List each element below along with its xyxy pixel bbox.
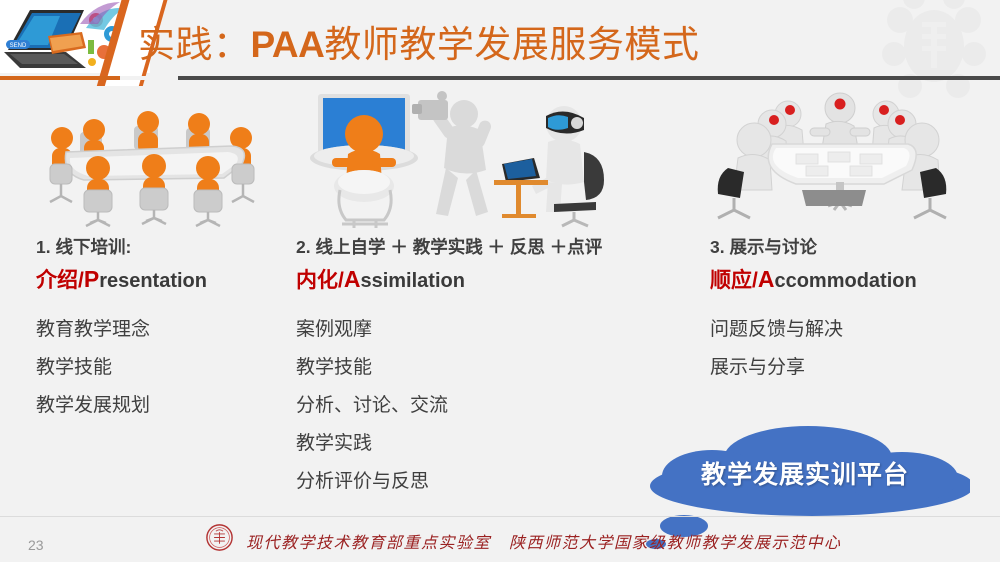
header-divider-gap: [120, 76, 178, 80]
column-1-term-cn: 介绍: [36, 269, 78, 292]
column-2-heading: 2. 线上自学 ＋ 教学实践 ＋ 反思 ＋点评: [296, 234, 696, 259]
column-3-bullets: 问题反馈与解决 展示与分享: [710, 320, 990, 377]
column-3-heading-text: 展示与讨论: [729, 237, 817, 257]
column-1-heading: 1. 线下培训:: [36, 234, 298, 259]
page-title-suffix: 教师教学发展服务模式: [324, 24, 699, 65]
online-learning-figures-illustration: [296, 86, 626, 228]
svg-text:SEND: SEND: [10, 43, 27, 49]
slide: SEND: [0, 0, 1000, 562]
list-item: 分析评价与反思: [296, 472, 696, 491]
column-2-heading-number: 2.: [296, 237, 315, 257]
list-item: 案例观摩: [296, 320, 696, 339]
list-item: 教学发展规划: [36, 396, 298, 415]
training-platform-label: 教学发展实训平台: [640, 424, 970, 516]
slide-header: SEND: [0, 0, 1000, 80]
column-2-term-cap: A: [344, 266, 361, 292]
column-1-term: 介绍/Presentation: [36, 264, 298, 294]
list-item: 问题反馈与解决: [710, 320, 990, 339]
column-1-artwork: [36, 86, 298, 234]
column-assimilation: 2. 线上自学 ＋ 教学实践 ＋ 反思 ＋点评 内化/Assimilation …: [296, 86, 696, 510]
training-platform-callout: 教学发展实训平台: [640, 424, 970, 516]
column-2-term-cn: 内化: [296, 269, 338, 292]
column-2-heading-text: 线上自学 ＋ 教学实践 ＋ 反思 ＋点评: [315, 237, 602, 257]
list-item: 教学技能: [36, 358, 298, 377]
column-2-term-rest: ssimilation: [360, 270, 464, 292]
column-1-term-rest: resentation: [99, 270, 207, 292]
orange-figures-meeting-table-illustration: [36, 86, 286, 228]
list-item: 展示与分享: [710, 358, 990, 377]
list-item: 教学实践: [296, 434, 696, 453]
footer-lab-name: 现代教学技术教育部重点实验室: [246, 535, 491, 552]
column-3-term-cn: 顺应: [710, 269, 752, 292]
column-3-artwork: [710, 86, 990, 234]
footer-text: 现代教学技术教育部重点实验室陕西师范大学国家级教师教学发展示范中心: [246, 529, 842, 553]
list-item: 教学技能: [296, 358, 696, 377]
column-presentation: 1. 线下培训: 介绍/Presentation 教育教学理念 教学技能 教学发…: [36, 86, 298, 434]
list-item: 分析、讨论、交流: [296, 396, 696, 415]
column-2-bullets: 案例观摩 教学技能 分析、讨论、交流 教学实践 分析评价与反思: [296, 320, 696, 491]
page-number: 23: [28, 537, 44, 553]
column-1-heading-number: 1.: [36, 237, 55, 257]
page-title-prefix: 实践：: [138, 24, 251, 65]
footer-center-name: 陕西师范大学国家级教师教学发展示范中心: [509, 535, 842, 552]
university-seal-icon: [206, 524, 233, 551]
column-3-heading-number: 3.: [710, 237, 729, 257]
list-item: 教育教学理念: [36, 320, 298, 339]
header-divider-orange: [0, 76, 120, 80]
column-1-bullets: 教育教学理念 教学技能 教学发展规划: [36, 320, 298, 415]
white-figures-discussion-table-illustration: [710, 86, 970, 228]
column-1-heading-text: 线下培训:: [55, 237, 131, 257]
footer-divider: [0, 516, 1000, 517]
column-3-term-cap: A: [758, 266, 775, 292]
column-3-term: 顺应/Accommodation: [710, 264, 990, 294]
column-2-artwork: [296, 86, 696, 234]
column-3-heading: 3. 展示与讨论: [710, 234, 990, 259]
column-3-term-rest: ccommodation: [774, 270, 916, 292]
page-title: 实践：PAA教师教学发展服务模式: [138, 14, 699, 68]
page-title-paa: PAA: [251, 24, 325, 65]
column-accommodation: 3. 展示与讨论 顺应/Accommodation 问题反馈与解决 展示与分享: [710, 86, 990, 396]
column-2-term: 内化/Assimilation: [296, 264, 696, 294]
column-1-term-cap: P: [84, 266, 99, 292]
